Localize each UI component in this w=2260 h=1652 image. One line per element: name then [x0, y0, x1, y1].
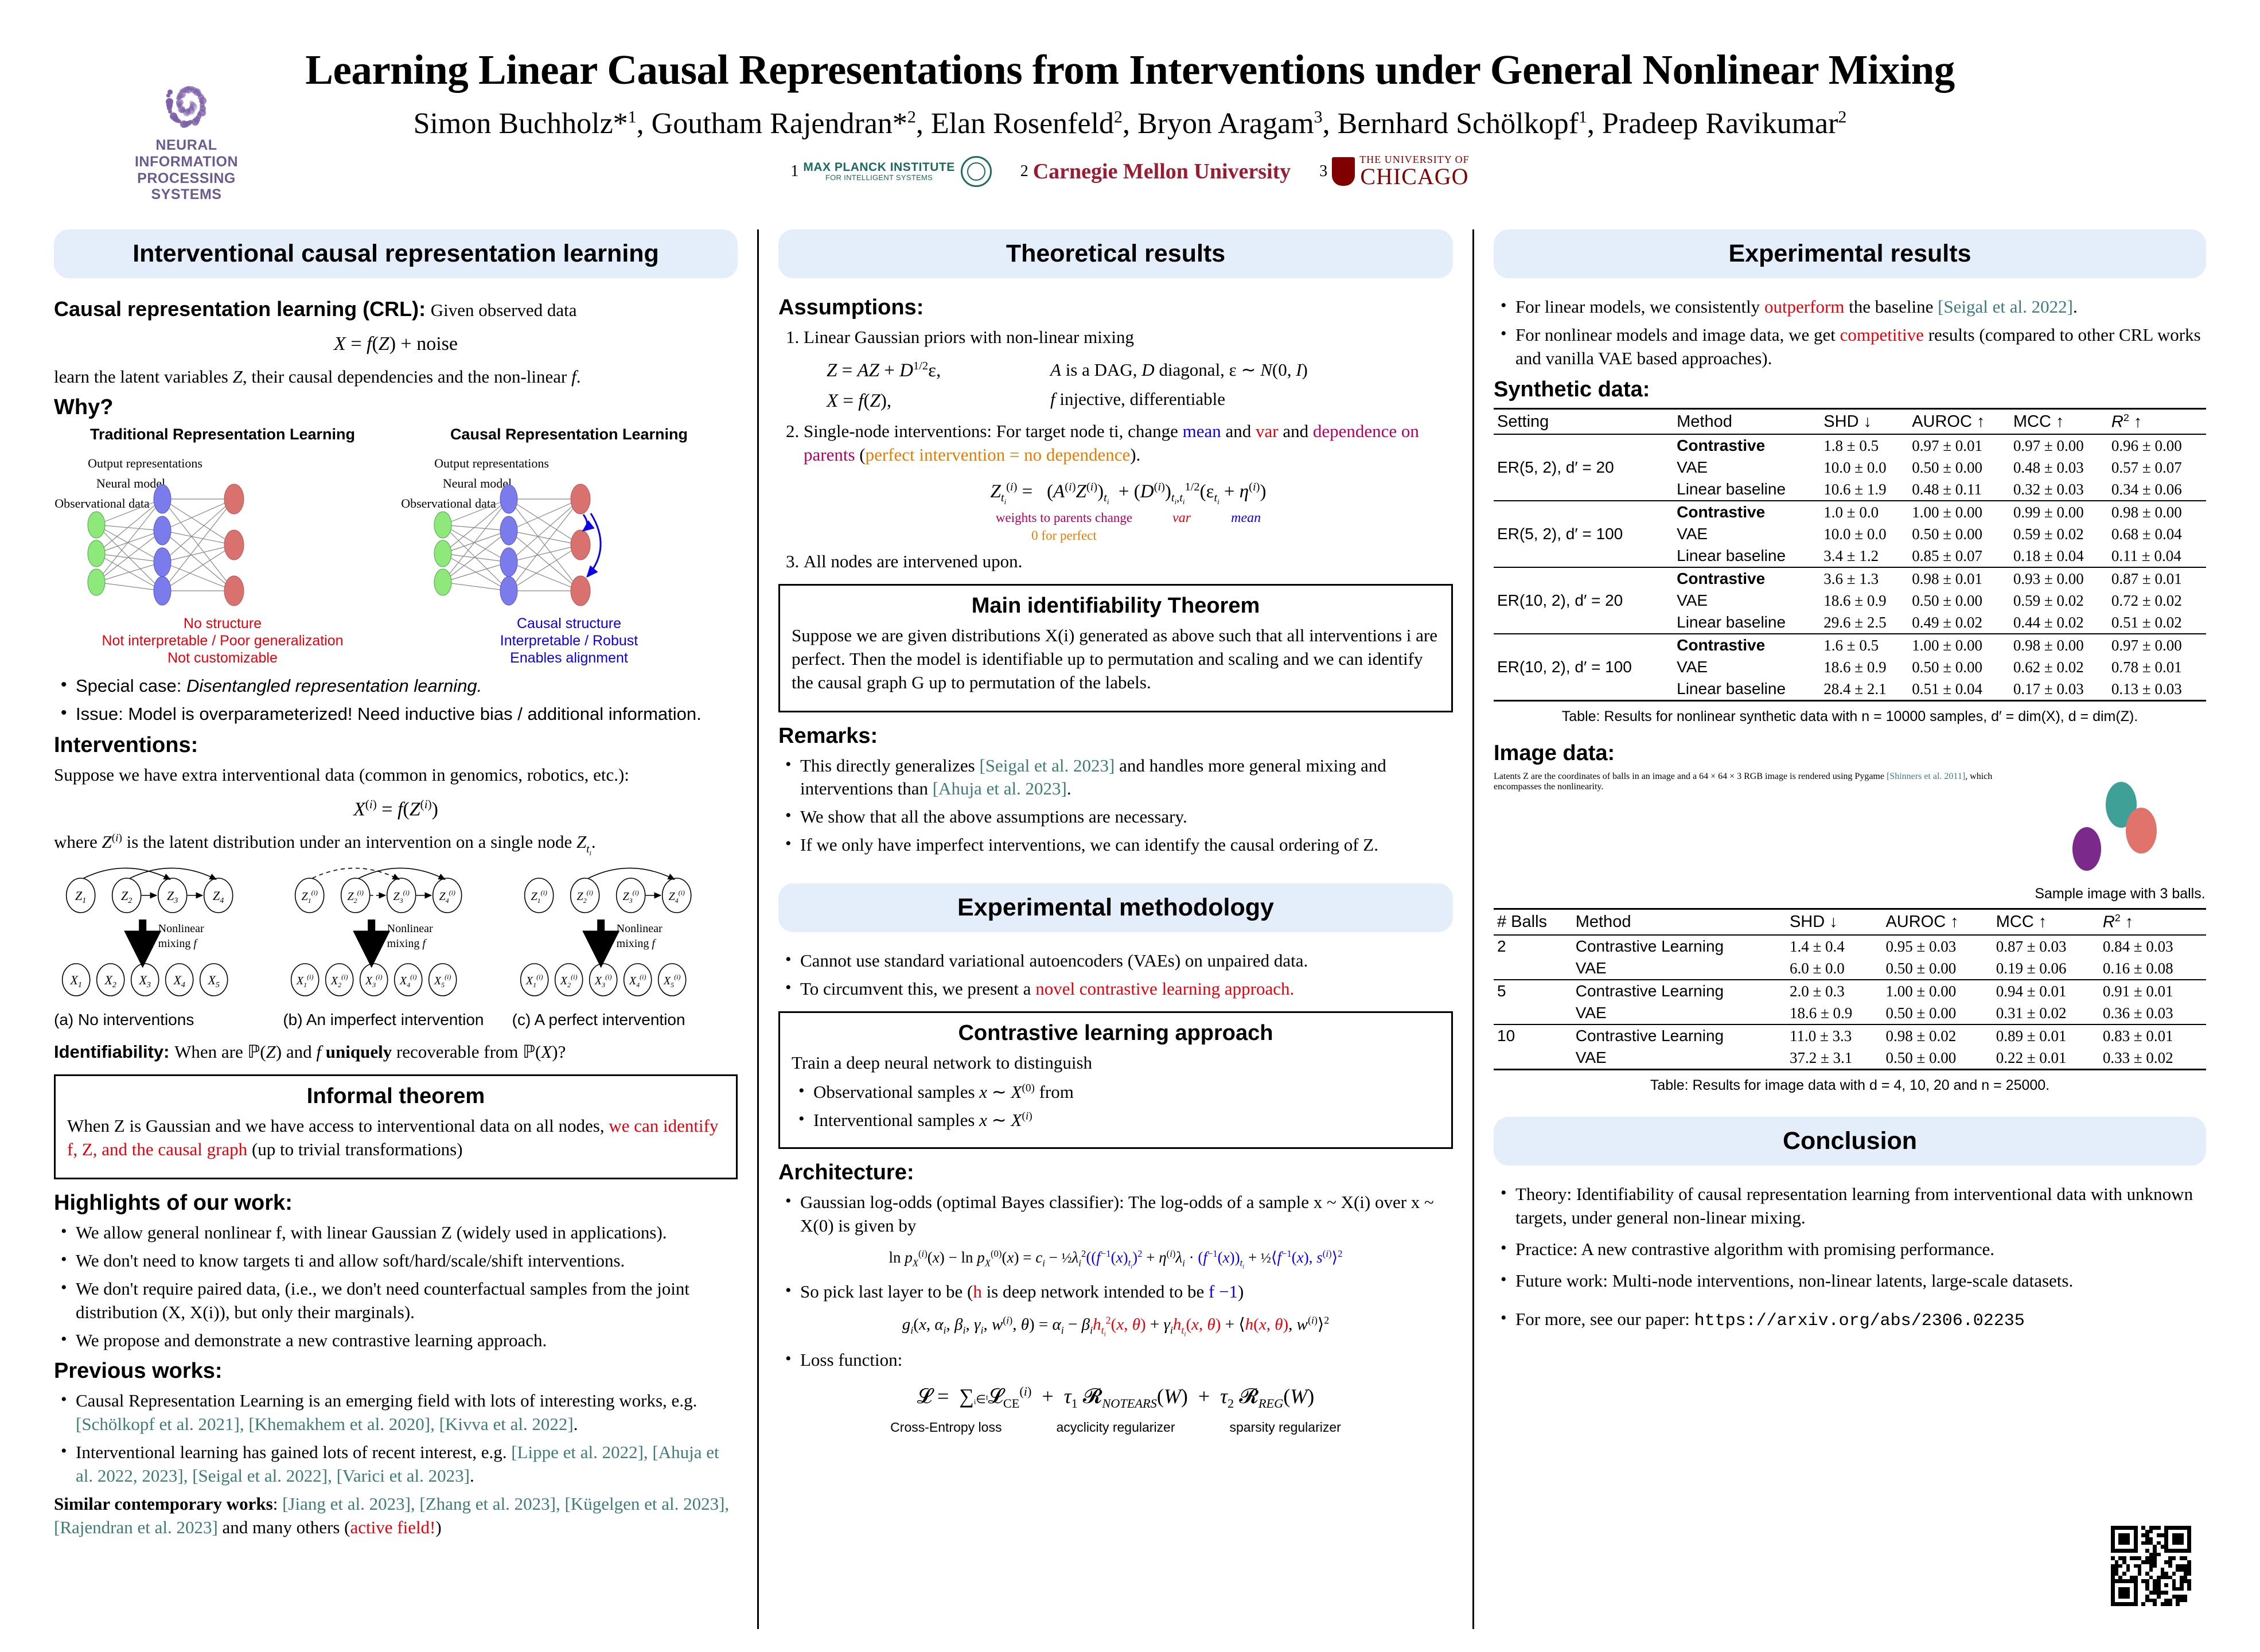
list-item: Interventional learning has gained lots … [59, 1441, 738, 1488]
cell-auroc: 0.50 ± 0.00 [1908, 656, 2010, 678]
table-header-row: Setting Method SHD ↓ AUROC ↑ MCC ↑ R2 ↑ [1494, 408, 2206, 434]
main-theorem-title: Main identifiability Theorem [792, 594, 1440, 618]
cell-r2: 0.34 ± 0.06 [2108, 478, 2206, 501]
svg-text:X3(i): X3(i) [594, 973, 612, 989]
svg-text:X1(i): X1(i) [525, 973, 543, 989]
cell-shd: 1.6 ± 0.5 [1820, 634, 1908, 656]
section-banner-interventional: Interventional causal representation lea… [54, 229, 738, 278]
interventions-heading: Interventions: [54, 733, 738, 758]
cell-r2: 0.57 ± 0.07 [2108, 457, 2206, 478]
table-row: ER(10, 2), d′ = 20VAE18.6 ± 0.90.50 ± 0.… [1494, 590, 2206, 611]
col-header-shd: SHD ↓ [1786, 909, 1882, 935]
cell-method: VAE [1673, 457, 1820, 478]
svg-text:X2: X2 [104, 973, 116, 989]
cell-mcc: 0.59 ± 0.02 [2010, 590, 2108, 611]
column-middle: Theoretical results Assumptions: Linear … [757, 229, 1474, 1629]
main-theorem-box: Main identifiability Theorem Suppose we … [778, 584, 1453, 712]
citation: [Seigal et al. 2023] [979, 755, 1115, 776]
cell-auroc: 1.00 ± 0.00 [1908, 634, 2010, 656]
expmethod-bullets: Cannot use standard variational autoenco… [778, 949, 1453, 1001]
svg-text:Z2(i): Z2(i) [576, 889, 593, 905]
table-row: ER(5, 2), d′ = 20VAE10.0 ± 0.00.50 ± 0.0… [1494, 457, 2206, 478]
cell-setting [1494, 634, 1673, 656]
col-header-method: Method [1572, 909, 1786, 935]
svg-text:Nonlinear: Nonlinear [616, 922, 662, 935]
author-list: Simon Buchholz*1, Goutham Rajendran*2, E… [34, 107, 2226, 141]
crl-lead: Given observed data [431, 300, 577, 320]
list-item: We propose and demonstrate a new contras… [59, 1329, 738, 1353]
outperform-highlight: outperform [1764, 297, 1844, 317]
svg-text:Z1: Z1 [75, 889, 86, 905]
cell-shd: 1.0 ± 0.0 [1820, 501, 1908, 523]
cell-setting [1494, 545, 1673, 567]
cell-mcc: 0.98 ± 0.00 [2010, 634, 2108, 656]
svg-text:mixing f: mixing f [387, 937, 427, 950]
section-title: Theoretical results [784, 240, 1447, 268]
cell-balls [1494, 1002, 1572, 1024]
cell-method: Linear baseline [1673, 478, 1820, 501]
cell-mcc: 0.89 ± 0.01 [1993, 1024, 2099, 1047]
affiliation-number: 1 [790, 162, 798, 181]
svg-text:Z4: Z4 [213, 889, 224, 905]
informal-theorem-body: When Z is Gaussian and we have access to… [67, 1115, 724, 1162]
table-row: Linear baseline28.4 ± 2.10.51 ± 0.040.17… [1494, 678, 2206, 701]
list-item: Practice: A new contrastive algorithm wi… [1498, 1238, 2206, 1261]
poster-root: NEURAL INFORMATION PROCESSING SYSTEMS Le… [0, 0, 2260, 1652]
crl-definition: Causal representation learning (CRL): Gi… [54, 295, 738, 323]
page-title: Learning Linear Causal Representations f… [34, 46, 2226, 94]
contrastive-lead: Train a deep neural network to distingui… [792, 1051, 1440, 1075]
cell-mcc: 0.59 ± 0.02 [2010, 523, 2108, 545]
cell-auroc: 1.00 ± 0.00 [1882, 980, 1992, 1002]
table-row: Contrastive1.6 ± 0.51.00 ± 0.000.98 ± 0.… [1494, 634, 2206, 656]
mean-keyword: mean [1183, 421, 1221, 441]
novel-approach-highlight: novel contrastive learning approach. [1035, 979, 1294, 999]
table-row: Linear baseline29.6 ± 2.50.49 ± 0.020.44… [1494, 611, 2206, 634]
affiliation-logos: 1 MAX PLANCK INSTITUTE FOR INTELLIGENT S… [34, 154, 2226, 188]
svg-text:X1: X1 [69, 973, 81, 989]
cell-auroc: 0.50 ± 0.00 [1882, 957, 1992, 980]
svg-text:Nonlinear: Nonlinear [158, 922, 204, 935]
dag-caption-c: (c) A perfect intervention [512, 1011, 738, 1029]
section-title: Experimental methodology [784, 894, 1447, 922]
affiliation-number: 2 [1020, 162, 1028, 181]
image-data-text: Latents Z are the coordinates of balls i… [1494, 772, 2027, 792]
why-heading: Why? [54, 395, 738, 420]
section-title: Experimental results [1499, 240, 2200, 268]
column-right: Experimental results For linear models, … [1474, 229, 2226, 1629]
neurips-logo: NEURAL INFORMATION PROCESSING SYSTEMS [120, 66, 252, 203]
svg-text:X2(i): X2(i) [560, 973, 578, 989]
list-item: For nonlinear models and image data, we … [1498, 324, 2206, 371]
sample-balls-image [2051, 772, 2189, 880]
cell-shd: 10.6 ± 1.9 [1820, 478, 1908, 501]
image-table-caption: Table: Results for image data with d = 4… [1494, 1077, 2206, 1094]
citation: [Ahuja et al. 2023] [933, 778, 1067, 798]
contrastive-box-title: Contrastive learning approach [792, 1021, 1440, 1046]
cell-shd: 18.6 ± 0.9 [1820, 590, 1908, 611]
crl-heading: Causal representation learning (CRL): [54, 297, 426, 321]
cell-method: Contrastive [1673, 434, 1820, 457]
architecture-bullets: Gaussian log-odds (optimal Bayes classif… [778, 1191, 1453, 1238]
table-row: Contrastive3.6 ± 1.30.98 ± 0.010.93 ± 0.… [1494, 567, 2206, 590]
table-header-row: # Balls Method SHD ↓ AUROC ↑ MCC ↑ R2 ↑ [1494, 909, 2206, 935]
cell-mcc: 0.19 ± 0.06 [1993, 957, 2099, 980]
dag-figure: Z1 Z2 Z3 Z4 Nonlinear mixing f [54, 862, 738, 1008]
cell-r2: 0.84 ± 0.03 [2099, 935, 2206, 957]
table-row: VAE18.6 ± 0.90.50 ± 0.000.31 ± 0.020.36 … [1494, 1002, 2206, 1024]
svg-text:Observational data: Observational data [54, 496, 150, 511]
list-item: Linear Gaussian priors with non-linear m… [804, 326, 1453, 414]
interventions-lead: Suppose we have extra interventional dat… [54, 763, 738, 787]
intervention-brace-labels: weights to parents change 0 for perfect … [804, 509, 1453, 544]
citation: [Schölkopf et al. 2021], [Khemakhem et a… [76, 1414, 574, 1434]
svg-text:Z2: Z2 [121, 889, 132, 905]
poster-columns: Interventional causal representation lea… [34, 229, 2226, 1629]
remarks-list: This directly generalizes [Seigal et al.… [778, 754, 1453, 858]
f-inverse-symbol: f −1 [1209, 1281, 1238, 1302]
image-data-heading: Image data: [1494, 741, 2206, 766]
cell-method: VAE [1673, 656, 1820, 678]
svg-text:X4: X4 [173, 973, 185, 989]
cell-shd: 1.4 ± 0.4 [1786, 935, 1882, 957]
brace-label-mean: mean [1231, 509, 1261, 544]
brace-label-acyclicity: acyclicity regularizer [1056, 1420, 1175, 1435]
cell-mcc: 0.17 ± 0.03 [2010, 678, 2108, 701]
informal-theorem-box: Informal theorem When Z is Gaussian and … [54, 1074, 738, 1179]
cell-r2: 0.16 ± 0.08 [2099, 957, 2206, 980]
more-info-list: For more, see our paper: https://arxiv.o… [1494, 1308, 2206, 1333]
cell-shd: 29.6 ± 2.5 [1820, 611, 1908, 634]
cell-mcc: 0.87 ± 0.03 [1993, 935, 2099, 957]
cell-setting [1494, 567, 1673, 590]
cell-r2: 0.96 ± 0.00 [2108, 434, 2206, 457]
svg-text:Z2(i): Z2(i) [348, 889, 364, 905]
mpi-logo-text: MAX PLANCK INSTITUTE FOR INTELLIGENT SYS… [803, 161, 954, 182]
affiliation-uchicago: 3 THE UNIVERSITY OF CHICAGO [1319, 154, 1469, 188]
svg-text:Z1(i): Z1(i) [531, 889, 547, 905]
last-layer-equation: gi(x, αi, βi, γi, w(i), θ) = αi − βihti2… [778, 1314, 1453, 1338]
svg-text:Output representations: Output representations [88, 456, 202, 470]
list-item: So pick last layer to be (h is deep netw… [783, 1280, 1453, 1304]
table-row: Contrastive1.0 ± 0.01.00 ± 0.000.99 ± 0.… [1494, 501, 2206, 523]
synthetic-table-caption: Table: Results for nonlinear synthetic d… [1494, 708, 2206, 725]
informal-theorem-title: Informal theorem [67, 1084, 724, 1109]
list-item: This directly generalizes [Seigal et al.… [783, 754, 1453, 801]
cell-mcc: 0.99 ± 0.00 [2010, 501, 2108, 523]
svg-text:X3: X3 [138, 973, 150, 989]
affiliation-number: 3 [1319, 162, 1327, 181]
cell-r2: 0.68 ± 0.04 [2108, 523, 2206, 545]
cell-method: Contrastive [1673, 634, 1820, 656]
cell-setting: ER(5, 2), d′ = 100 [1494, 523, 1673, 545]
cell-method: Contrastive [1673, 567, 1820, 590]
highlights-list: We allow general nonlinear f, with linea… [54, 1221, 738, 1353]
section-banner-expmethod: Experimental methodology [778, 883, 1453, 932]
list-item: Cannot use standard variational autoenco… [783, 949, 1453, 973]
svg-text:Observational data: Observational data [401, 496, 496, 511]
cell-r2: 0.51 ± 0.02 [2108, 611, 2206, 634]
cell-auroc: 0.49 ± 0.02 [1908, 611, 2010, 634]
cell-setting [1494, 434, 1673, 457]
experimental-bullets: For linear models, we consistently outpe… [1494, 295, 2206, 371]
cell-r2: 0.98 ± 0.00 [2108, 501, 2206, 523]
table-row: ER(5, 2), d′ = 100VAE10.0 ± 0.00.50 ± 0.… [1494, 523, 2206, 545]
nn-title: Traditional Representation Learning [54, 426, 391, 443]
svg-text:X3(i): X3(i) [365, 973, 383, 989]
list-item: If we only have imperfect interventions,… [783, 833, 1453, 857]
cell-setting: ER(10, 2), d′ = 20 [1494, 590, 1673, 611]
brace-label-perfect: 0 for perfect [996, 527, 1132, 544]
interventions-equation: X(i) = f(Z(i)) [54, 797, 738, 820]
cell-method: Linear baseline [1673, 611, 1820, 634]
cmu-logo-text: Carnegie Mellon University [1033, 159, 1291, 184]
list-item: We allow general nonlinear f, with linea… [59, 1221, 738, 1245]
cell-method: VAE [1673, 590, 1820, 611]
architecture-bullets-3: Loss function: [778, 1349, 1453, 1372]
minerva-icon [961, 156, 992, 187]
cell-method: VAE [1572, 957, 1786, 980]
cell-balls: 10 [1494, 1024, 1572, 1047]
competitive-highlight: competitive [1840, 325, 1924, 345]
remarks-heading: Remarks: [778, 724, 1453, 749]
list-item: Loss function: [783, 1349, 1453, 1372]
dag-caption-a: (a) No interventions [54, 1011, 279, 1029]
cell-auroc: 0.51 ± 0.04 [1908, 678, 2010, 701]
mpi-logo: MAX PLANCK INSTITUTE FOR INTELLIGENT SYS… [803, 156, 991, 187]
dag-panel-a: Z1 Z2 Z3 Z4 Nonlinear mixing f [54, 862, 279, 1008]
col-header-auroc: AUROC ↑ [1882, 909, 1992, 935]
nn-caption-traditional: No structure Not interpretable / Poor ge… [54, 615, 391, 667]
eq-left: Z = AZ + D1/2ε, X = f(Z), [827, 359, 1016, 414]
list-item: Gaussian log-odds (optimal Bayes classif… [783, 1191, 1453, 1238]
cell-r2: 0.83 ± 0.01 [2099, 1024, 2206, 1047]
uchicago-logo-text: THE UNIVERSITY OF CHICAGO [1359, 154, 1469, 188]
cell-mcc: 0.94 ± 0.01 [1993, 980, 2099, 1002]
cell-shd: 10.0 ± 0.0 [1820, 457, 1908, 478]
log-odds-equation: ln pX(i)(x) − ln pX(0)(x) = ci − ½λi2((f… [778, 1248, 1453, 1271]
table-row: Linear baseline10.6 ± 1.90.48 ± 0.110.32… [1494, 478, 2206, 501]
cell-mcc: 0.62 ± 0.02 [2010, 656, 2108, 678]
cell-r2: 0.91 ± 0.01 [2099, 980, 2206, 1002]
cell-shd: 10.0 ± 0.0 [1820, 523, 1908, 545]
list-item: For more, see our paper: https://arxiv.o… [1498, 1308, 2206, 1333]
cell-method: Contrastive [1673, 501, 1820, 523]
cell-r2: 0.13 ± 0.03 [2108, 678, 2206, 701]
cell-r2: 0.33 ± 0.02 [2099, 1047, 2206, 1070]
cell-shd: 3.4 ± 1.2 [1820, 545, 1908, 567]
perfect-keyword: perfect intervention = no dependence [866, 445, 1131, 465]
cell-shd: 6.0 ± 0.0 [1786, 957, 1882, 980]
list-item: Causal Representation Learning is an eme… [59, 1389, 738, 1436]
contrastive-box: Contrastive learning approach Train a de… [778, 1011, 1453, 1149]
svg-text:Z3(i): Z3(i) [393, 889, 410, 905]
svg-text:Z3(i): Z3(i) [622, 889, 638, 905]
list-item: Single-node interventions: For target no… [804, 420, 1453, 544]
svg-text:X5(i): X5(i) [663, 973, 681, 989]
cell-auroc: 1.00 ± 0.00 [1908, 501, 2010, 523]
neurips-dots-icon [135, 66, 238, 135]
brace-label-var: var [1172, 509, 1191, 544]
active-field-note: active field! [350, 1517, 436, 1537]
svg-text:X5: X5 [207, 973, 219, 989]
cell-setting [1494, 478, 1673, 501]
svg-text:X4(i): X4(i) [629, 973, 646, 989]
cell-r2: 0.97 ± 0.00 [2108, 634, 2206, 656]
column-left: Interventional causal representation lea… [34, 229, 757, 1629]
cell-method: Linear baseline [1673, 545, 1820, 567]
svg-text:Nonlinear: Nonlinear [387, 922, 433, 935]
cell-setting [1494, 678, 1673, 701]
conclusion-list: Theory: Identifiability of causal repres… [1494, 1183, 2206, 1293]
image-results-table: # Balls Method SHD ↓ AUROC ↑ MCC ↑ R2 ↑ … [1494, 908, 2206, 1070]
section-banner-conclusion: Conclusion [1494, 1117, 2206, 1166]
svg-text:Output representations: Output representations [434, 456, 549, 470]
cell-mcc: 0.44 ± 0.02 [2010, 611, 2108, 634]
section-banner-experimental: Experimental results [1494, 229, 2206, 278]
svg-text:X2(i): X2(i) [330, 973, 348, 989]
cell-shd: 18.6 ± 0.9 [1820, 656, 1908, 678]
cell-method: Contrastive Learning [1572, 980, 1786, 1002]
table-body: 2Contrastive Learning1.4 ± 0.40.95 ± 0.0… [1494, 935, 2206, 1070]
list-item: Future work: Multi-node interventions, n… [1498, 1269, 2206, 1293]
list-item: All nodes are intervened upon. [804, 550, 1453, 574]
previous-works-heading: Previous works: [54, 1359, 738, 1384]
identifiability-line: Identifiability: When are ℙ(Z) and f uni… [54, 1041, 738, 1064]
cell-balls: 2 [1494, 935, 1572, 957]
cell-mcc: 0.22 ± 0.01 [1993, 1047, 2099, 1070]
cell-r2: 0.78 ± 0.01 [2108, 656, 2206, 678]
brace-label-weights: weights to parents change [996, 509, 1132, 527]
interventions-after-text: where Z(i) is the latent distribution un… [54, 831, 738, 858]
table-row: 10Contrastive Learning11.0 ± 3.30.98 ± 0… [1494, 1024, 2206, 1047]
cell-auroc: 0.50 ± 0.00 [1908, 523, 2010, 545]
cell-r2: 0.36 ± 0.03 [2099, 1002, 2206, 1024]
paper-url-link[interactable]: https://arxiv.org/abs/2306.02235 [1694, 1311, 2025, 1331]
var-keyword: var [1256, 421, 1279, 441]
eq-right: A is a DAG, D diagonal, ε ∼ N(0, I) f in… [1050, 359, 1308, 414]
svg-text:Z4(i): Z4(i) [668, 889, 684, 905]
synthetic-results-table: Setting Method SHD ↓ AUROC ↑ MCC ↑ R2 ↑ … [1494, 408, 2206, 702]
similar-works-heading: Similar contemporary works [54, 1494, 273, 1514]
similar-works-line: Similar contemporary works: [Jiang et al… [54, 1493, 738, 1540]
cell-shd: 11.0 ± 3.3 [1786, 1024, 1882, 1047]
cell-method: VAE [1572, 1047, 1786, 1070]
table-row: VAE6.0 ± 0.00.50 ± 0.000.19 ± 0.060.16 ±… [1494, 957, 2206, 980]
dag-captions: (a) No interventions (b) An imperfect in… [54, 1011, 738, 1029]
dag-caption-b: (b) An imperfect intervention [283, 1011, 508, 1029]
cell-r2: 0.87 ± 0.01 [2108, 567, 2206, 590]
col-header-r2: R2 ↑ [2099, 909, 2206, 935]
cell-shd: 1.8 ± 0.5 [1820, 434, 1908, 457]
svg-text:Z3: Z3 [167, 889, 178, 905]
assumptions-list: Linear Gaussian priors with non-linear m… [778, 326, 1453, 574]
cell-auroc: 0.98 ± 0.02 [1882, 1024, 1992, 1047]
cell-setting [1494, 501, 1673, 523]
image-data-row: Latents Z are the coordinates of balls i… [1494, 772, 2206, 902]
table-row: 2Contrastive Learning1.4 ± 0.40.95 ± 0.0… [1494, 935, 2206, 957]
list-item: To circumvent this, we present a novel c… [783, 977, 1453, 1001]
affiliation-cmu: 2 Carnegie Mellon University [1020, 159, 1291, 184]
cell-shd: 2.0 ± 0.3 [1786, 980, 1882, 1002]
previous-works-list: Causal Representation Learning is an eme… [54, 1389, 738, 1488]
svg-text:Z4(i): Z4(i) [439, 889, 455, 905]
cell-shd: 18.6 ± 0.9 [1786, 1002, 1882, 1024]
sample-image-block: Sample image with 3 balls. [2034, 772, 2206, 902]
cell-method: VAE [1673, 523, 1820, 545]
cell-mcc: 0.93 ± 0.00 [2010, 567, 2108, 590]
cell-auroc: 0.85 ± 0.07 [1908, 545, 2010, 567]
list-item: For linear models, we consistently outpe… [1498, 295, 2206, 319]
cell-auroc: 0.98 ± 0.01 [1908, 567, 2010, 590]
cell-setting: ER(5, 2), d′ = 20 [1494, 457, 1673, 478]
list-item: Observational samples x ∼ X(0) from [796, 1081, 1440, 1104]
cell-mcc: 0.48 ± 0.03 [2010, 457, 2108, 478]
dag-panel-b: Z1(i) Z2(i) Z3(i) Z4(i) Nonlinear mixing… [283, 862, 508, 1008]
main-theorem-body: Suppose we are given distributions X(i) … [792, 624, 1440, 695]
neurips-logo-text: NEURAL INFORMATION PROCESSING SYSTEMS [120, 137, 252, 203]
intervention-equation: Zti(i) = (A(i)Z(i))ti + (D(i))ti,ti1/2(ε… [804, 480, 1453, 507]
cell-auroc: 0.48 ± 0.11 [1908, 478, 2010, 501]
dag-panel-c: Z1(i) Z2(i) Z3(i) Z4(i) Nonlinear mixing… [512, 862, 738, 1008]
list-item: Special case: Disentangled representatio… [59, 675, 738, 698]
architecture-bullets-2: So pick last layer to be (h is deep netw… [778, 1280, 1453, 1304]
svg-text:Z1(i): Z1(i) [302, 889, 318, 905]
list-item: We don't need to know targets ti and all… [59, 1249, 738, 1273]
cell-shd: 3.6 ± 1.3 [1820, 567, 1908, 590]
col-header-method: Method [1673, 408, 1820, 434]
col-header-r2: R2 ↑ [2108, 408, 2206, 434]
list-item: Issue: Model is overparameterized! Need … [59, 703, 738, 726]
why-bullets: Special case: Disentangled representatio… [54, 675, 738, 726]
section-banner-theoretical: Theoretical results [778, 229, 1453, 278]
list-item: We show that all the above assumptions a… [783, 805, 1453, 829]
table-body: Contrastive1.8 ± 0.50.97 ± 0.010.97 ± 0.… [1494, 434, 2206, 701]
cell-auroc: 0.50 ± 0.00 [1908, 457, 2010, 478]
cell-balls [1494, 1047, 1572, 1070]
cell-method: VAE [1572, 1002, 1786, 1024]
nn-diagram-traditional-icon: Output representations Neural model Obse… [54, 445, 391, 611]
brace-label-ce: Cross-Entropy loss [890, 1420, 1002, 1435]
svg-text:Neural model: Neural model [443, 476, 512, 490]
list-item: We don't require paired data, (i.e., we … [59, 1277, 738, 1324]
cell-balls [1494, 957, 1572, 980]
identifiability-text: When are ℙ(Z) and f uniquely recoverable… [174, 1042, 566, 1062]
col-header-auroc: AUROC ↑ [1908, 408, 2010, 434]
why-diagram: Traditional Representation Learning Outp… [54, 426, 738, 667]
svg-text:mixing f: mixing f [158, 937, 198, 950]
cell-auroc: 0.50 ± 0.00 [1882, 1002, 1992, 1024]
h-symbol: h [973, 1281, 982, 1302]
table-row: ER(10, 2), d′ = 100VAE18.6 ± 0.90.50 ± 0… [1494, 656, 2206, 678]
assumptions-heading: Assumptions: [778, 295, 1453, 320]
dag-perfect-intervention-icon: Z1(i) Z2(i) Z3(i) Z4(i) Nonlinear mixing… [512, 862, 738, 1006]
cell-auroc: 0.50 ± 0.00 [1882, 1047, 1992, 1070]
nn-title: Causal Representation Learning [400, 426, 738, 443]
cell-auroc: 0.95 ± 0.03 [1882, 935, 1992, 957]
sample-image-caption: Sample image with 3 balls. [2034, 886, 2206, 902]
list-item: Theory: Identifiability of causal repres… [1498, 1183, 2206, 1230]
col-header-setting: Setting [1494, 408, 1673, 434]
cell-mcc: 0.32 ± 0.03 [2010, 478, 2108, 501]
table-row: Contrastive1.8 ± 0.50.97 ± 0.010.97 ± 0.… [1494, 434, 2206, 457]
poster-header: NEURAL INFORMATION PROCESSING SYSTEMS Le… [34, 23, 2226, 229]
svg-text:mixing f: mixing f [616, 937, 656, 950]
qr-code[interactable] [2111, 1526, 2191, 1606]
cell-r2: 0.11 ± 0.04 [2108, 545, 2206, 567]
identifiability-label: Identifiability: [54, 1042, 170, 1062]
architecture-heading: Architecture: [778, 1160, 1453, 1185]
